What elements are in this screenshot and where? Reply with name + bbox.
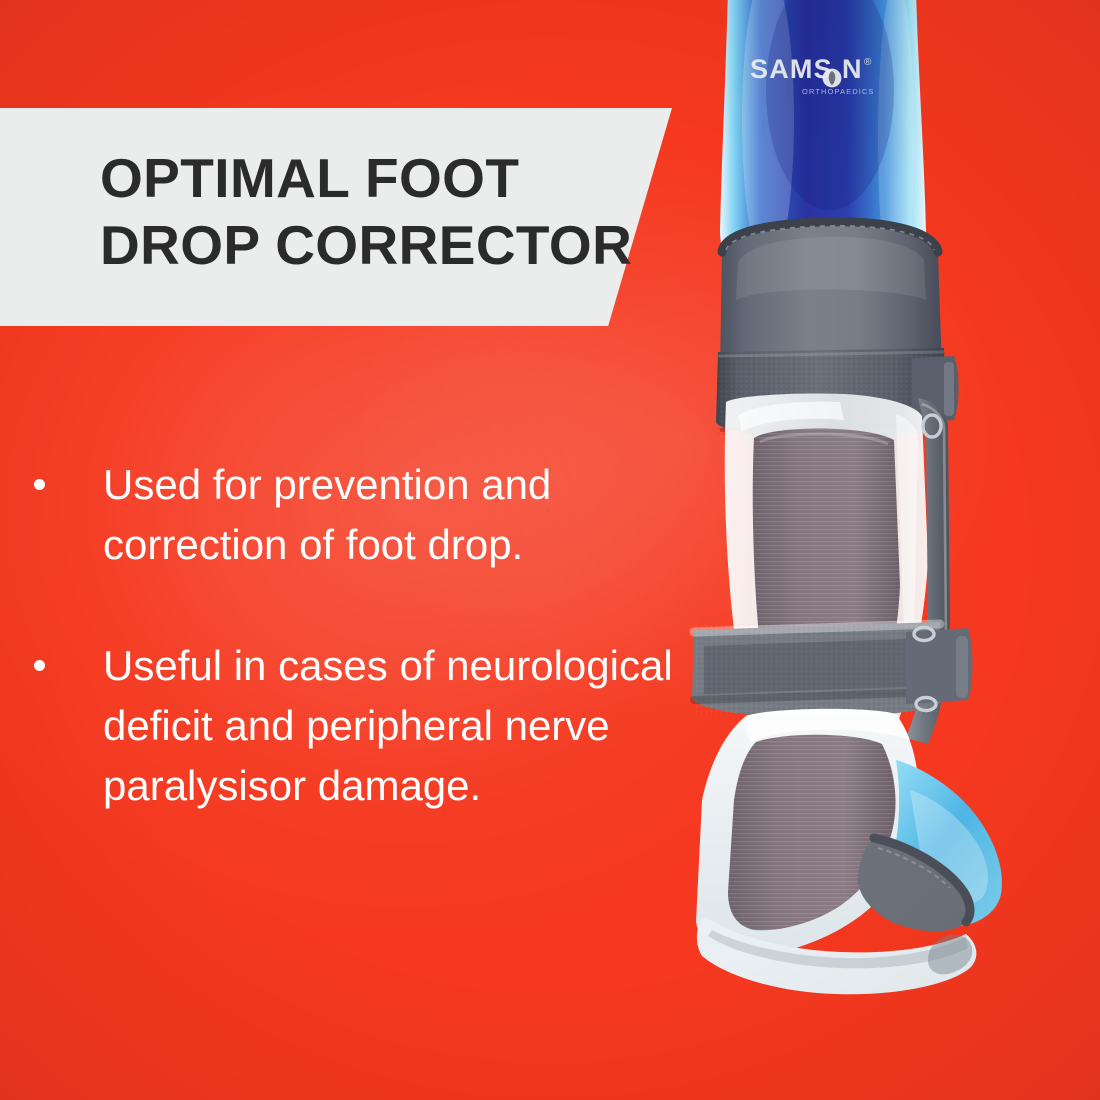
list-item: Useful in cases of neurological deficit … (34, 636, 734, 815)
list-item: Used for prevention and correction of fo… (34, 455, 734, 574)
bullet-dot-icon (34, 660, 45, 671)
page-title: OPTIMAL FOOT DROP CORRECTOR (100, 145, 640, 279)
feature-list: Used for prevention and correction of fo… (34, 455, 734, 815)
bullet-dot-icon (34, 479, 45, 490)
list-item-text: Used for prevention and correction of fo… (103, 455, 734, 574)
list-item-text: Useful in cases of neurological deficit … (103, 636, 734, 815)
poster-canvas: SAMS N ® ORTHOPAEDICS (0, 0, 1100, 1100)
